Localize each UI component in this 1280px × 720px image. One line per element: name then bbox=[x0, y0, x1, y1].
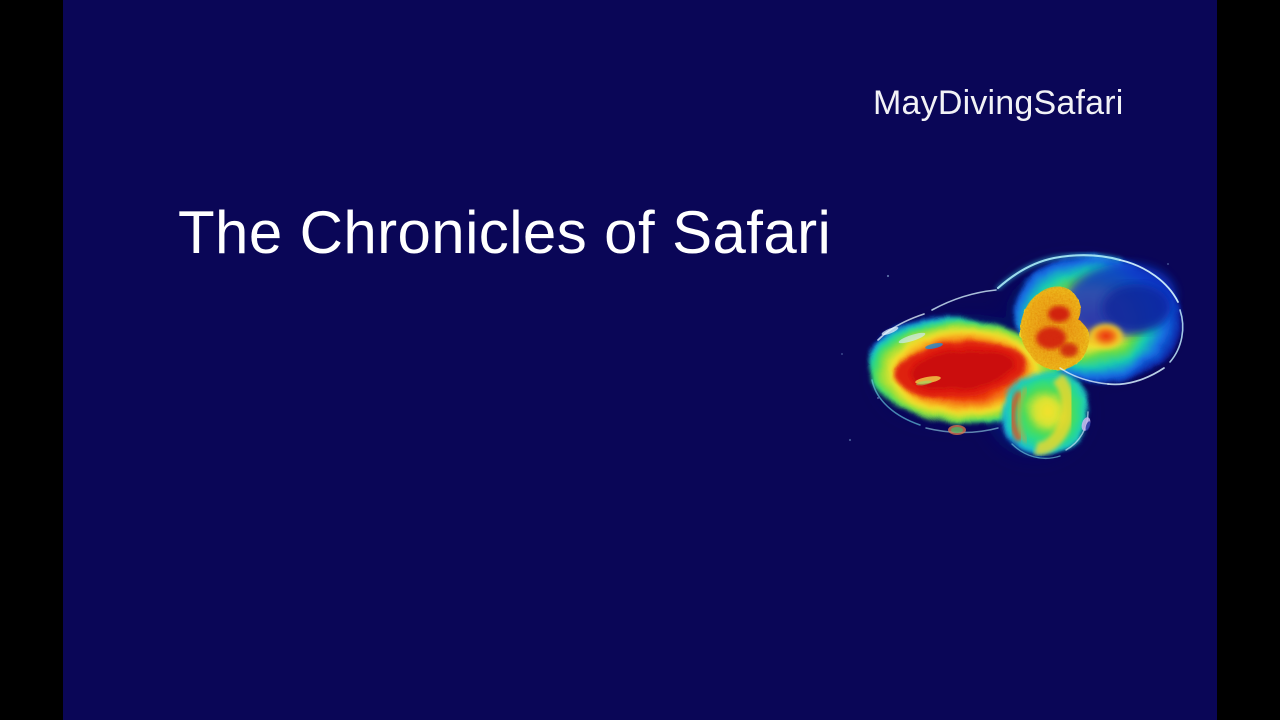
atoll-heatmap-image bbox=[820, 228, 1217, 478]
heatmap-svg bbox=[820, 228, 1217, 478]
letterbox-left bbox=[0, 0, 63, 720]
east-hotspot bbox=[1087, 322, 1125, 350]
slide-stage: MayDivingSafari The Chronicles of Safari bbox=[0, 0, 1280, 720]
letterbox-right bbox=[1217, 0, 1280, 720]
slide-canvas: MayDivingSafari The Chronicles of Safari bbox=[63, 0, 1217, 720]
page-title: The Chronicles of Safari bbox=[178, 198, 831, 267]
watermark-text: MayDivingSafari bbox=[873, 84, 1124, 123]
